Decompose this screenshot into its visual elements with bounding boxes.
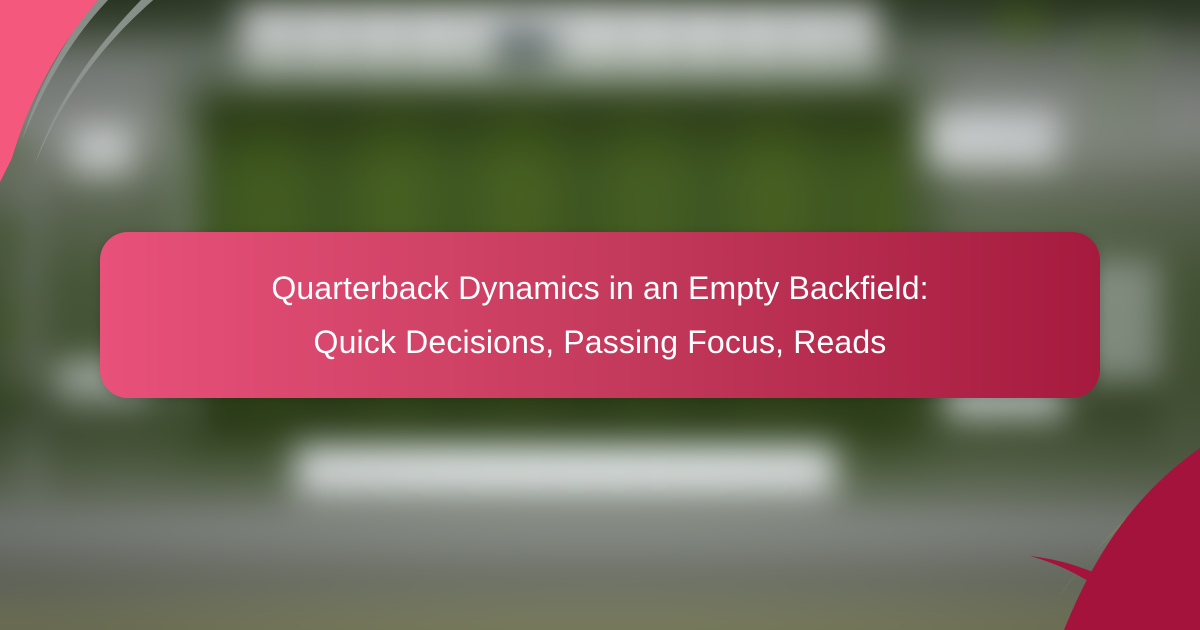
og-hero-card: Quarterback Dynamics in an Empty Backfie… [0,0,1200,630]
page-title: Quarterback Dynamics in an Empty Backfie… [225,261,974,369]
title-banner: Quarterback Dynamics in an Empty Backfie… [100,232,1100,398]
